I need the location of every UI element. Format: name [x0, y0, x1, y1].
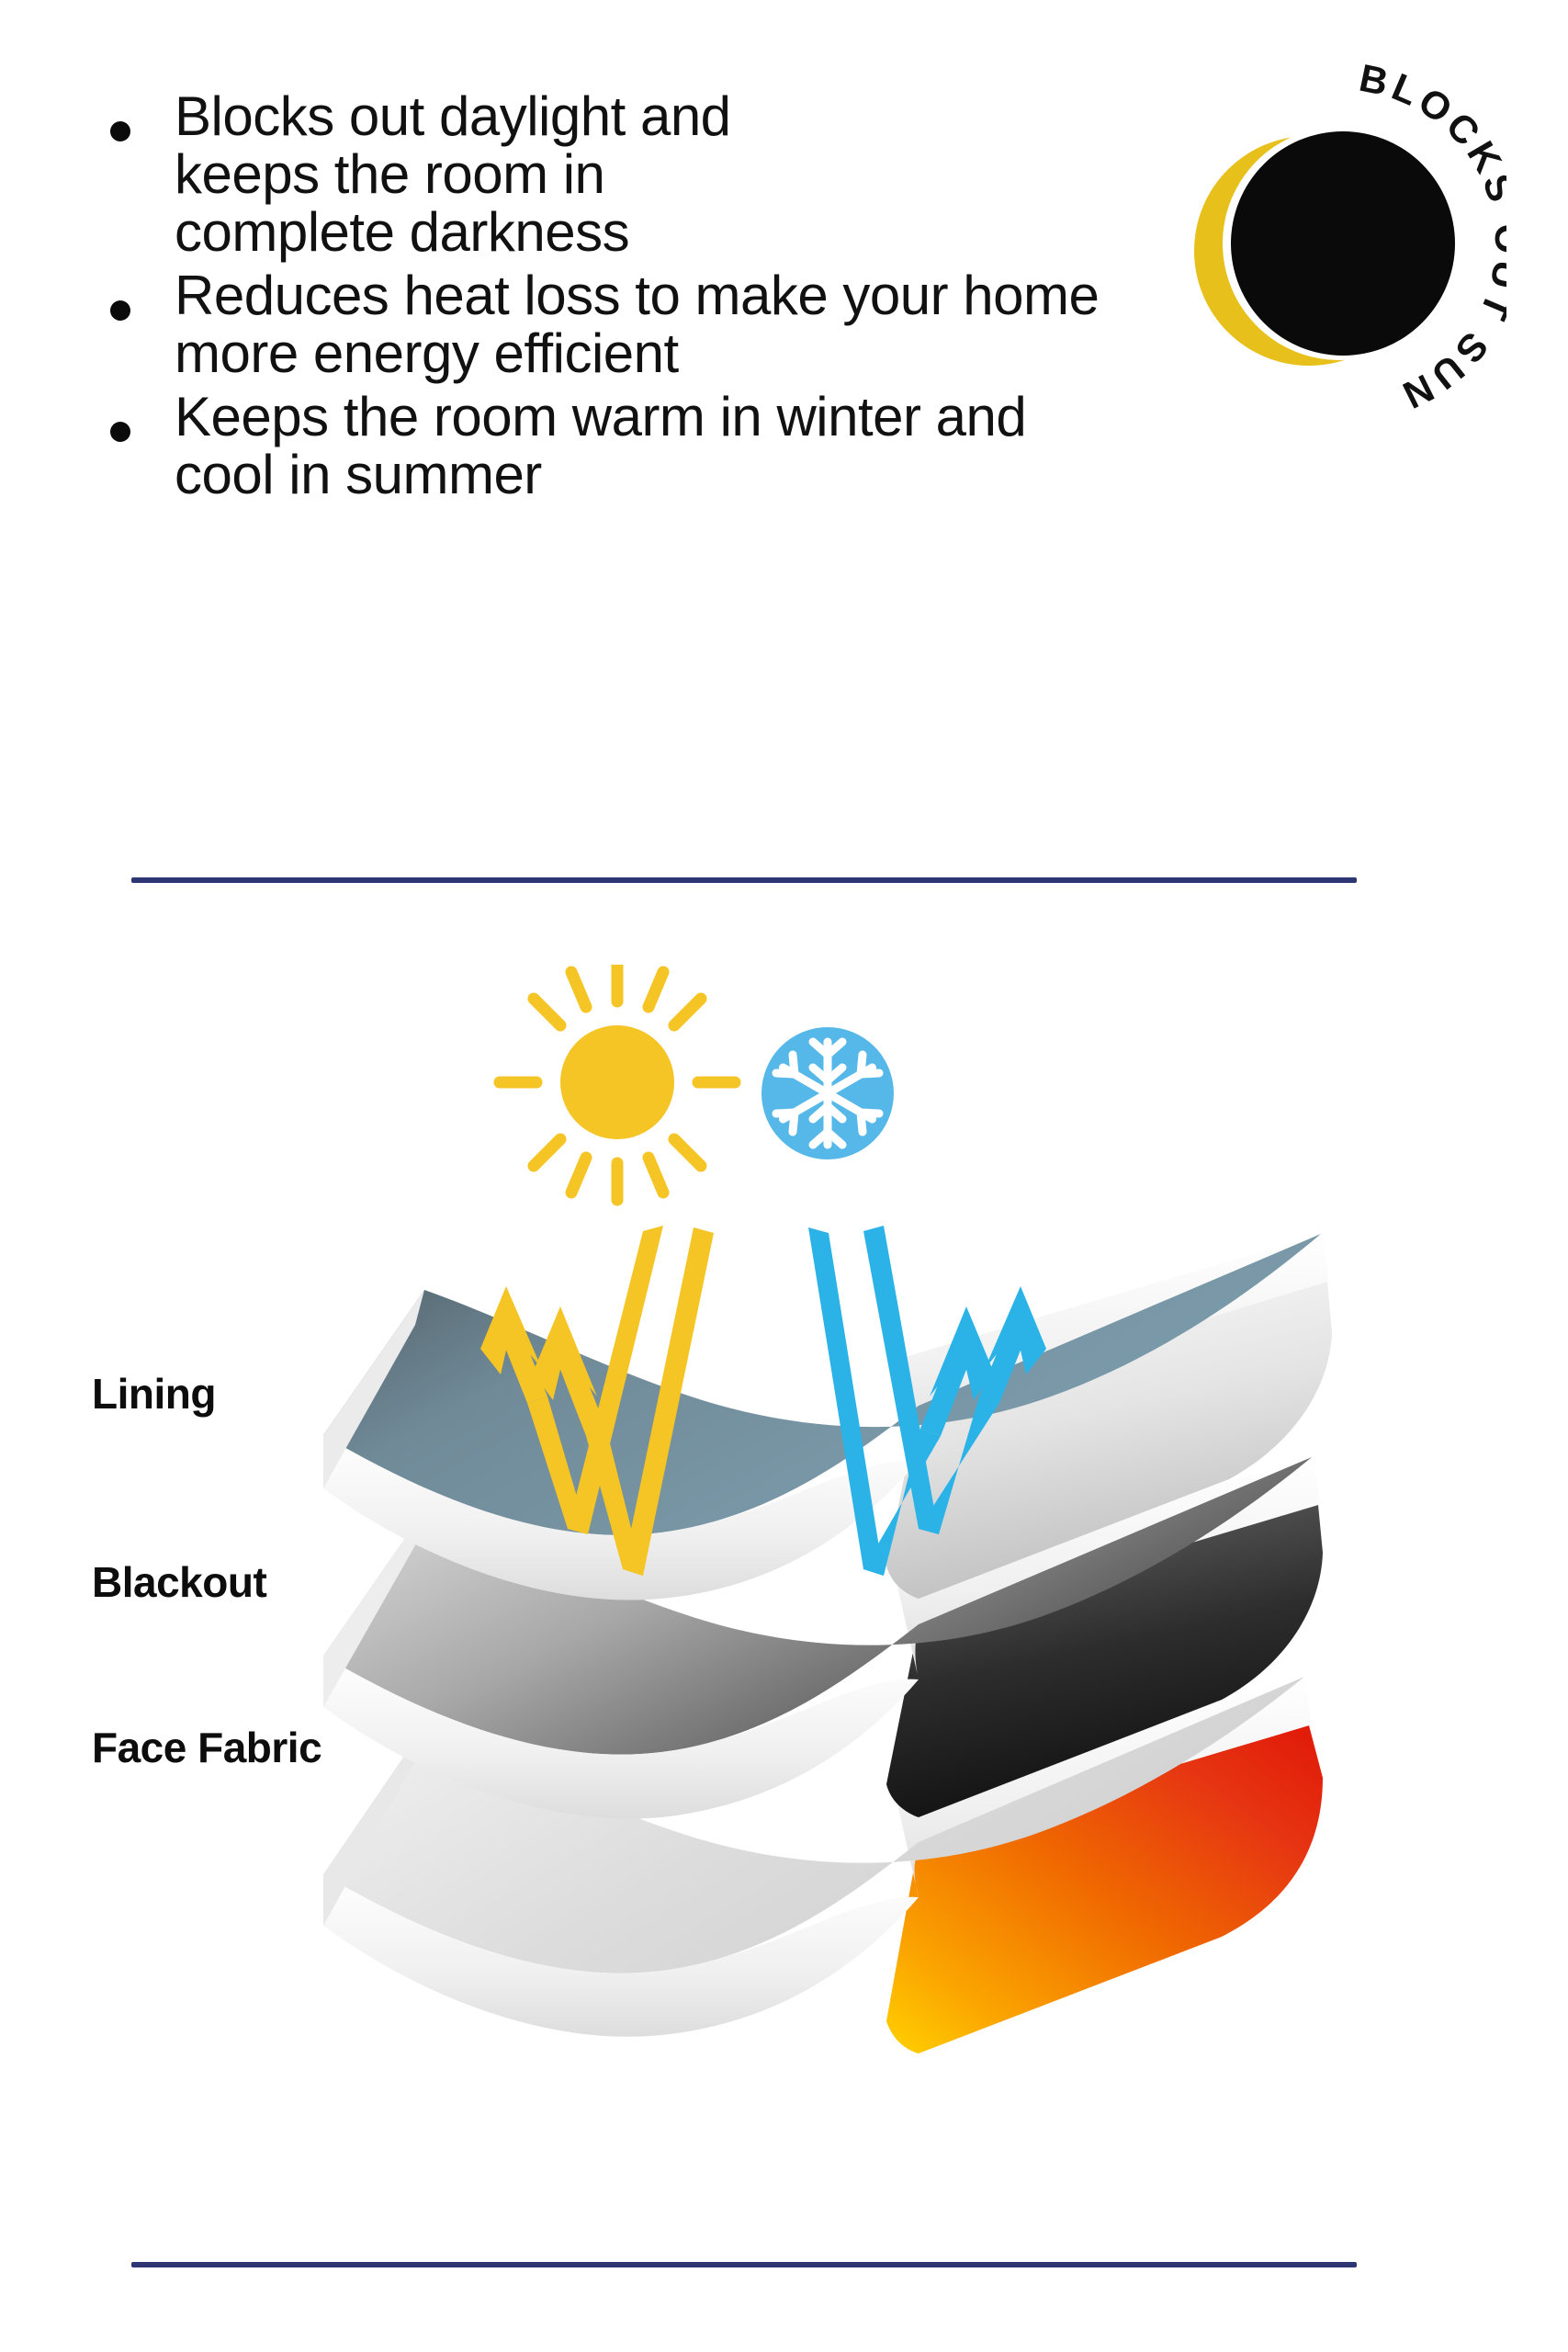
bullet-dot-icon [110, 300, 130, 321]
feature-text: Reduces heat loss to make your home more… [175, 266, 1194, 382]
feature-text: Keeps the room warm in winter and cool i… [175, 388, 1102, 503]
eclipse-disc-icon [1231, 131, 1455, 356]
list-item: Keeps the room warm in winter and cool i… [110, 388, 1194, 503]
list-item: Reduces heat loss to make your home more… [110, 266, 1194, 382]
bullet-dot-icon [110, 121, 130, 141]
sun-icon [500, 965, 735, 1200]
feature-text: Blocks out daylight and keeps the room i… [175, 87, 818, 261]
divider-bottom [131, 2262, 1357, 2267]
blocks-out-sun-badge: BLOCKS OUT SUN [1139, 55, 1506, 423]
list-item: Blocks out daylight and keeps the room i… [110, 87, 1194, 261]
bullet-dot-icon [110, 422, 130, 442]
divider-top [131, 877, 1357, 883]
fabric-layers-diagram [0, 965, 1568, 2150]
snowflake-icon [761, 1027, 894, 1159]
features-list: Blocks out daylight and keeps the room i… [110, 87, 1194, 509]
